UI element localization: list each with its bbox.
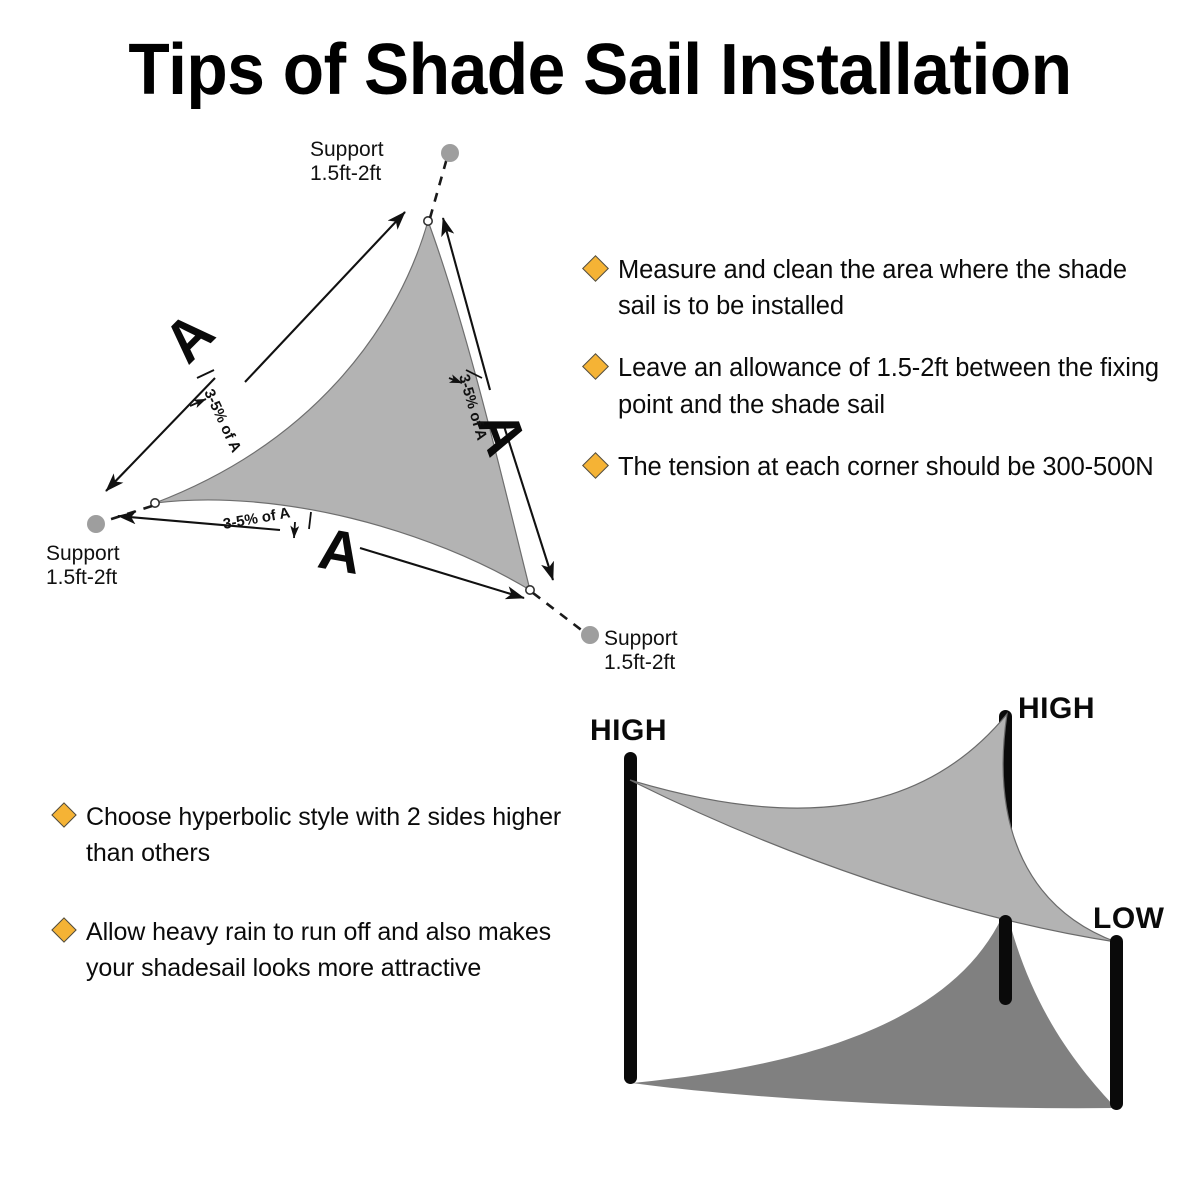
support-label-left-line2: 1.5ft-2ft (46, 566, 117, 589)
infographic-page: Tips of Shade Sail Installation Support … (0, 0, 1200, 1200)
support-label-bottom-line1: Support (604, 627, 678, 650)
bullet-item-tension: The tension at each corner should be 300… (586, 449, 1166, 485)
bullet-text: Choose hyperbolic style with 2 sides hig… (86, 800, 595, 871)
bullet-list-top: Measure and clean the area where the sha… (586, 252, 1166, 511)
bullet-text: The tension at each corner should be 300… (618, 449, 1154, 485)
diamond-bullet-icon (582, 452, 609, 479)
bullet-item-hyperbolic-style: Choose hyperbolic style with 2 sides hig… (55, 800, 595, 871)
sail-ground-shadow (632, 908, 1116, 1108)
pole-center-lower-segment (999, 915, 1012, 1005)
hyperbolic-shade-sail-diagram: HIGH HIGH LOW (560, 680, 1200, 1140)
allowance-tick-bottom-a (309, 512, 311, 529)
diamond-bullet-icon (582, 255, 609, 282)
diamond-bullet-icon (51, 917, 76, 942)
bullet-text: Measure and clean the area where the sha… (618, 252, 1166, 324)
pole-label-right-low: LOW (1093, 902, 1165, 935)
allowance-tick-bottom-b (294, 522, 295, 538)
diamond-bullet-icon (582, 353, 609, 380)
support-label-left-line1: Support (46, 542, 120, 565)
support-dot-bottom (581, 626, 599, 644)
page-title: Tips of Shade Sail Installation (36, 34, 1164, 106)
eyelet-bottom (526, 586, 534, 594)
diamond-bullet-icon (51, 802, 76, 827)
support-dot-top (441, 144, 459, 162)
support-lead-top (430, 158, 447, 218)
bullet-item-rain-runoff: Allow heavy rain to run off and also mak… (55, 915, 595, 986)
pole-label-center-high: HIGH (1018, 692, 1095, 725)
pole-label-left-high: HIGH (590, 714, 667, 747)
support-label-top-line2: 1.5ft-2ft (310, 162, 381, 185)
support-lead-bottom (533, 593, 584, 632)
side-label-A-bottom: A (314, 516, 367, 587)
pole-left-high (624, 752, 637, 1084)
side-label-A-left: A (151, 300, 227, 376)
support-dot-left (87, 515, 105, 533)
triangle-shade-sail-diagram: Support 1.5ft-2ft Support 1.5ft-2ft Supp… (0, 120, 600, 700)
dimension-arrow-left-down (106, 378, 215, 491)
hyperbolic-sail-shape (630, 714, 1116, 942)
eyelet-left (151, 499, 159, 507)
bullet-item-measure-clean: Measure and clean the area where the sha… (586, 252, 1166, 324)
support-label-top-line1: Support (310, 138, 384, 161)
support-label-bottom-line2: 1.5ft-2ft (604, 651, 675, 674)
pole-right-low (1110, 935, 1123, 1110)
bullet-item-allowance: Leave an allowance of 1.5-2ft between th… (586, 350, 1166, 422)
bullet-text: Leave an allowance of 1.5-2ft between th… (618, 350, 1166, 422)
bullet-text: Allow heavy rain to run off and also mak… (86, 915, 595, 986)
allowance-label-left: 3-5% of A (200, 387, 244, 456)
bullet-list-bottom: Choose hyperbolic style with 2 sides hig… (55, 800, 595, 1012)
support-lead-left (102, 506, 152, 522)
